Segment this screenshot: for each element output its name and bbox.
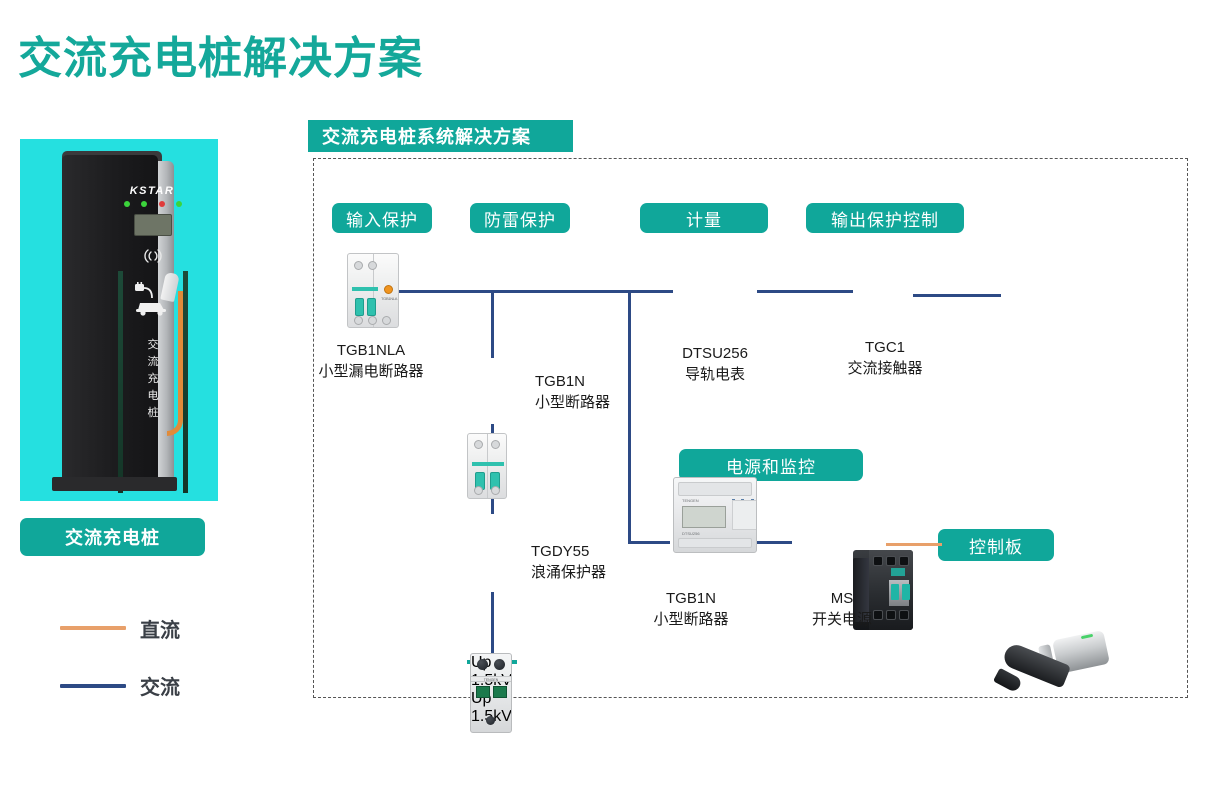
pile-vertical-label: 交 流 充 电 桩 — [136, 337, 170, 422]
led-indicator-3 — [159, 201, 165, 207]
category-pill-metering: 计量 — [640, 203, 768, 233]
diagram-root: 交流充电桩解决方案 KSTAR — [0, 0, 1213, 812]
meter-model-print: DTSU256 — [682, 531, 700, 536]
legend-swatch-ac — [60, 684, 126, 688]
category-pill-surge-protection: 防雷保护 — [470, 203, 570, 233]
page-title: 交流充电桩解决方案 — [18, 22, 423, 86]
spd-cap-1 — [477, 659, 488, 670]
label-contactor: TGC1 交流接触器 — [805, 337, 965, 379]
pile-light-strip-left — [118, 271, 123, 493]
pile-char-2: 流 — [136, 354, 170, 371]
spd-cap-2 — [494, 659, 505, 670]
mcb-top-terminal-tr — [491, 440, 500, 449]
pile-char-5: 桩 — [136, 405, 170, 422]
rcbo-test-button[interactable] — [384, 285, 393, 294]
mcb-top-teal-band — [472, 462, 504, 466]
label-spd: TGDY55 浪涌保护器 — [531, 541, 691, 583]
contactor-terminal-t2 — [886, 556, 896, 566]
brand-logo: KSTAR — [104, 185, 200, 197]
legend-swatch-dc — [60, 626, 126, 630]
label-contactor-name: 交流接触器 — [805, 358, 965, 379]
label-psu-name: 开关电源 — [762, 609, 922, 630]
label-meter-name: 导轨电表 — [625, 364, 805, 385]
contactor-brand-mark — [891, 568, 905, 576]
pile-light-strip-right — [183, 271, 188, 493]
charging-cable — [167, 291, 183, 436]
spd-window-1 — [476, 686, 490, 698]
label-rcbo-model: TGB1NLA — [281, 340, 461, 361]
pile-char-1: 交 — [136, 337, 170, 354]
led-indicator-4 — [176, 201, 182, 207]
pile-base — [52, 477, 177, 491]
meter-brand-print: TENGEN — [682, 498, 699, 503]
category-pill-output-control: 输出保护控制 — [806, 203, 964, 233]
section-banner: 交流充电桩系统解决方案 — [308, 120, 573, 152]
label-spd-model: TGDY55 — [531, 541, 691, 562]
rcbo-terminal-bm — [368, 316, 377, 325]
mcb-top-terminal-bl — [474, 486, 483, 495]
label-rcbo: TGB1NLA 小型漏电断路器 — [281, 340, 461, 382]
wire-ac-branch-spd-upper — [491, 290, 494, 358]
wire-ac-main-left — [398, 290, 673, 293]
label-mcb-bottom-name: 小型断路器 — [611, 609, 771, 630]
product-caption-pill: 交流充电桩 — [20, 518, 205, 556]
label-mcb-bottom-model: TGB1N — [611, 588, 771, 609]
led-indicator-2 — [141, 201, 147, 207]
label-meter: DTSU256 导轨电表 — [625, 343, 805, 385]
label-mcb-bottom: TGB1N 小型断路器 — [611, 588, 771, 630]
meter-led-row — [732, 490, 757, 495]
device-ev-charging-gun — [995, 629, 1107, 709]
wire-dc-psu-control-board — [886, 543, 942, 546]
led-indicator-1 — [124, 201, 130, 207]
meter-spec-panel — [732, 500, 757, 530]
device-mcb-tgb1n-top — [467, 433, 507, 499]
wire-ac-branch-ground — [491, 592, 494, 660]
mcb-top-split — [487, 434, 488, 498]
spd-window-2 — [493, 686, 507, 698]
label-meter-model: DTSU256 — [625, 343, 805, 364]
legend-label-ac: 交流 — [140, 671, 180, 700]
led-indicator-group — [124, 201, 182, 207]
label-psu-model: MS — [762, 588, 922, 609]
rcbo-print: TGB1NLA — [381, 296, 397, 301]
spd-brand-bar: TENGEN — [471, 676, 511, 682]
pile-char-4: 电 — [136, 388, 170, 405]
pile-body: KSTAR — [62, 155, 158, 485]
wire-ac-contactor-gun — [913, 294, 1001, 297]
label-contactor-model: TGC1 — [805, 337, 965, 358]
rcbo-toggle-1[interactable] — [355, 298, 364, 316]
rcbo-toggle-2[interactable] — [367, 298, 376, 316]
label-rcbo-name: 小型漏电断路器 — [281, 361, 461, 382]
device-meter-dtsu256: TENGEN DTSU256 — [673, 477, 757, 553]
legend-label-dc: 直流 — [140, 614, 180, 643]
device-spd-tgdy55: TENGEN Up 1.5kV Up 1.5kV — [470, 653, 512, 733]
mcb-top-terminal-tl — [474, 440, 483, 449]
category-pill-input-protection: 输入保护 — [332, 203, 432, 233]
product-photo: KSTAR — [20, 139, 218, 501]
rfid-wave-icon — [140, 247, 166, 265]
contactor-terminal-t1 — [873, 556, 883, 566]
wire-ac-branch-psu-vertical — [628, 290, 631, 543]
gun-nose — [993, 668, 1023, 693]
label-spd-name: 浪涌保护器 — [531, 562, 691, 583]
category-pill-control-board: 控制板 — [938, 529, 1054, 561]
device-rcbo-tgb1nla: TGB1NLA — [347, 253, 399, 328]
mcb-top-terminal-br — [491, 486, 500, 495]
rcbo-terminal-tl — [354, 261, 363, 270]
wire-ac-meter-contactor — [757, 290, 853, 293]
label-mcb-top-name: 小型断路器 — [535, 392, 695, 413]
rcbo-terminal-tm — [368, 261, 377, 270]
contactor-terminal-t3 — [899, 556, 909, 566]
rcbo-terminal-bl — [354, 316, 363, 325]
rcbo-teal-band — [352, 287, 378, 291]
spd-print-1: Up 1.5kV — [471, 654, 511, 690]
meter-bottom-rail — [678, 538, 752, 548]
meter-lcd-display — [682, 506, 726, 528]
pile-char-3: 充 — [136, 371, 170, 388]
rcbo-terminal-br — [382, 316, 391, 325]
label-psu: MS 开关电源 — [762, 588, 922, 630]
pile-display-screen — [134, 214, 172, 236]
spd-bottom-terminal — [486, 716, 495, 725]
